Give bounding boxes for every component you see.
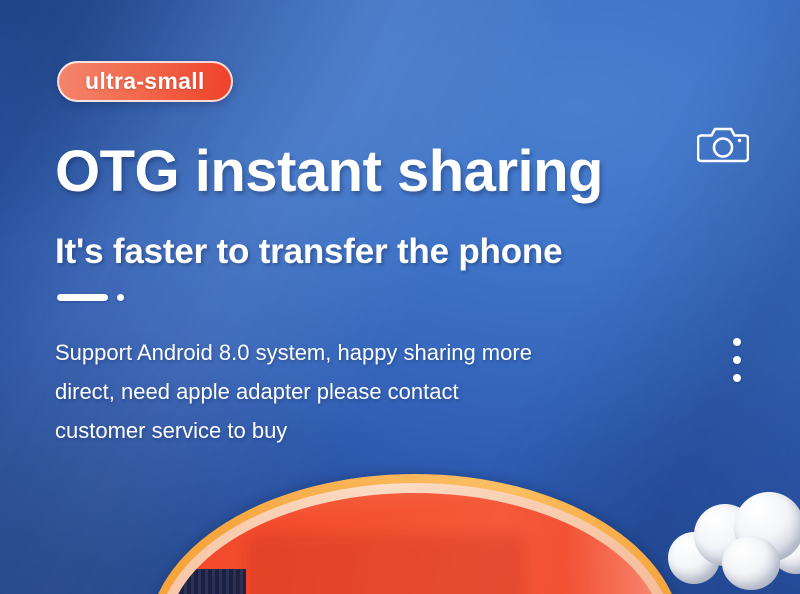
disc-top-sheen <box>148 474 682 594</box>
divider-dot <box>117 294 124 301</box>
description-line: customer service to buy <box>55 411 675 450</box>
more-vertical-icon[interactable] <box>733 338 741 382</box>
ultra-small-badge: ultra-small <box>57 61 233 102</box>
camera-icon <box>697 122 749 164</box>
divider-bar <box>57 294 108 301</box>
description-line: Support Android 8.0 system, happy sharin… <box>55 333 675 372</box>
more-dot <box>733 338 741 346</box>
headline-secondary: It's faster to transfer the phone <box>55 234 562 269</box>
headline-primary: OTG instant sharing <box>55 143 603 201</box>
badge-label: ultra-small <box>85 68 205 95</box>
more-dot <box>733 374 741 382</box>
divider-decoration <box>57 294 124 301</box>
description-line: direct, need apple adapter please contac… <box>55 372 675 411</box>
description-text: Support Android 8.0 system, happy sharin… <box>55 333 675 450</box>
cloud-graphic <box>668 492 800 594</box>
cloud-puff <box>722 536 780 590</box>
product-disc-graphic <box>148 474 682 594</box>
more-dot <box>733 356 741 364</box>
promo-banner: ultra-small OTG instant sharing It's fas… <box>0 0 800 594</box>
